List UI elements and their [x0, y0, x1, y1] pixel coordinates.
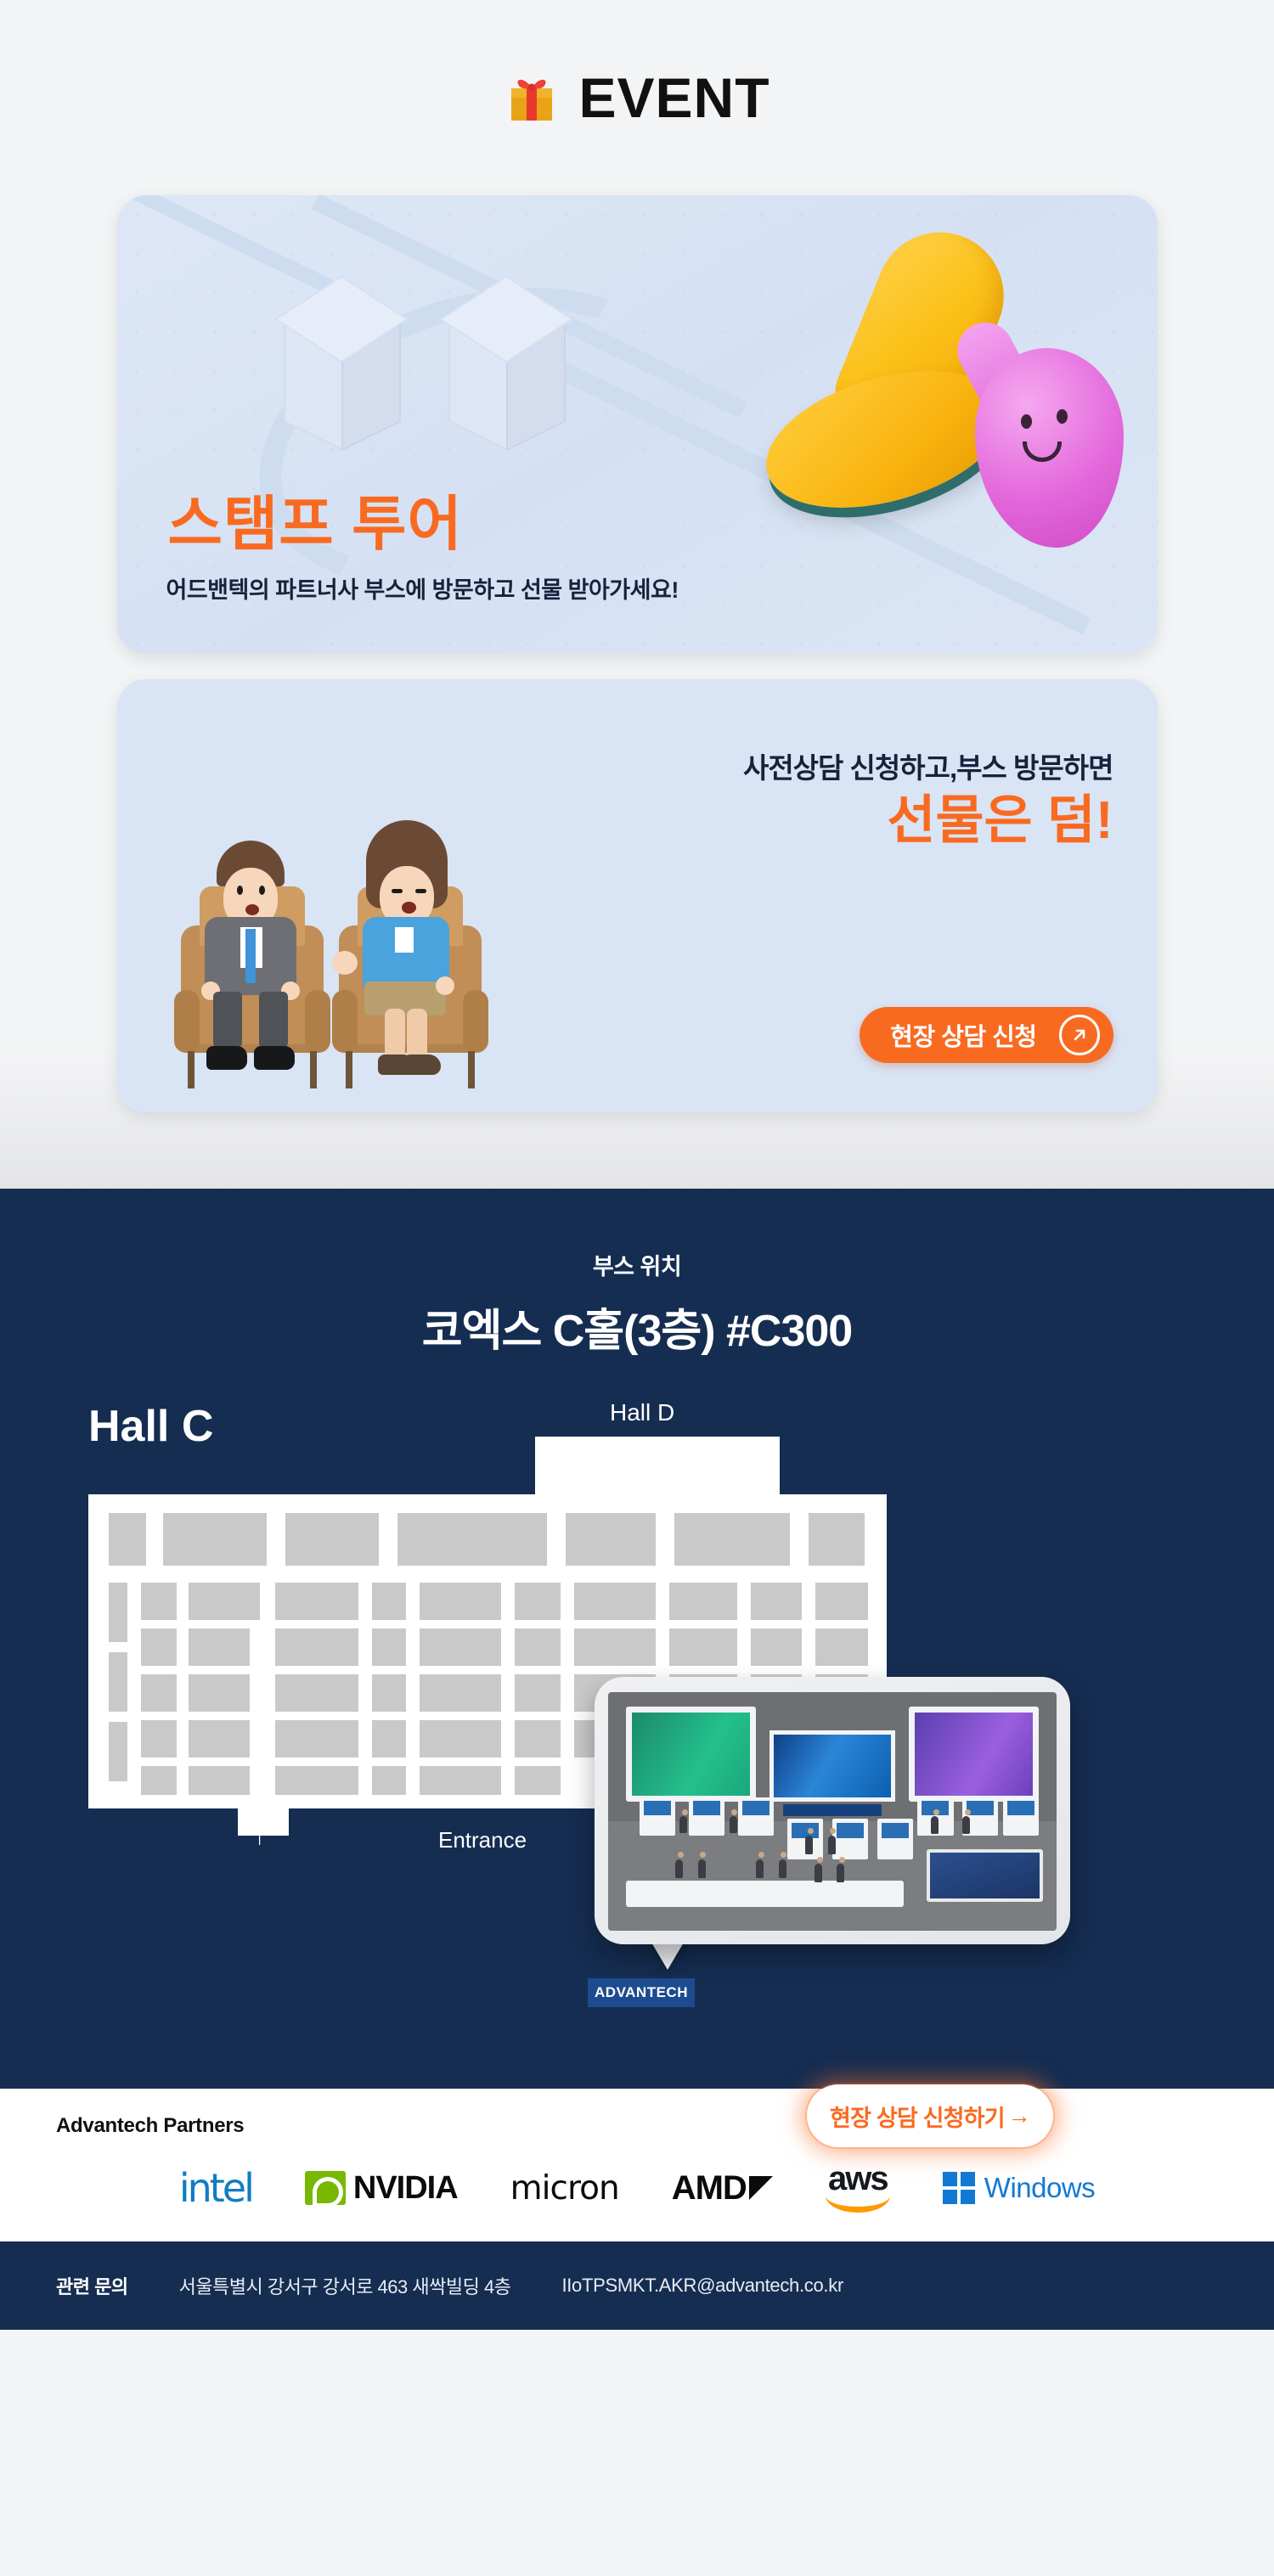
arrow-up-right-icon	[1059, 1015, 1100, 1055]
nvidia-eye-icon	[305, 2171, 346, 2205]
aws-logo[interactable]: aws	[826, 2163, 890, 2213]
event-landing-page: EVENT	[0, 0, 1274, 2576]
button-label: 현장 상담 신청	[890, 1017, 1036, 1053]
nvidia-logo[interactable]: NVIDIA	[305, 2163, 458, 2213]
booth-eyebrow: 부스 위치	[0, 1248, 1274, 1281]
footer-address: 서울특별시 강서구 강서로 463 새싹빌딩 4층	[179, 2272, 511, 2299]
micron-logo-text: micron	[510, 2169, 619, 2208]
stamp-tour-card[interactable]: 스탬프 투어 어드밴텍의 파트너사 부스에 방문하고 선물 받아가세요!	[117, 195, 1158, 654]
advantech-booth-badge: ADVANTECH	[588, 1978, 695, 2007]
entrance-arrow-left-icon: ↑	[253, 1824, 266, 1849]
footer-contact-label: 관련 문의	[56, 2272, 128, 2299]
windows-logo[interactable]: Windows	[943, 2163, 1095, 2213]
intel-logo[interactable]: intel	[179, 2163, 252, 2213]
cta-label: 현장 상담 신청하기	[830, 2100, 1005, 2133]
amd-logo[interactable]: AMD	[672, 2163, 773, 2213]
amd-arrow-icon	[749, 2176, 773, 2200]
card-title: 스탬프 투어	[168, 494, 463, 554]
arrow-right-icon: →	[1008, 2103, 1030, 2129]
page-header: EVENT	[0, 0, 1274, 195]
stamp-illustration-icon	[733, 229, 1132, 586]
windows-logo-text: Windows	[984, 2172, 1095, 2204]
onsite-consult-button[interactable]: 현장 상담 신청	[860, 1007, 1113, 1063]
intel-logo-text: intel	[179, 2165, 252, 2211]
card-line-2: 선물은 덤!	[887, 788, 1113, 854]
onsite-consult-cta-button[interactable]: 현장 상담 신청하기 →	[807, 2084, 1053, 2147]
booth-title: 코엑스 C홀(3층) #C300	[0, 1295, 1274, 1358]
partners-title: Advantech Partners	[56, 2114, 1274, 2138]
footer-email[interactable]: IIoTPSMKT.AKR@advantech.co.kr	[561, 2275, 843, 2297]
card-line-1: 사전상담 신청하고,부스 방문하면	[743, 745, 1113, 786]
booth-location-section: 부스 위치 코엑스 C홀(3층) #C300 Hall C Hall D	[0, 1189, 1274, 2089]
people-illustration-icon	[181, 749, 538, 1088]
gift-box-icon	[504, 70, 560, 126]
aws-smile-icon	[826, 2196, 890, 2213]
micron-logo[interactable]: micron	[510, 2163, 619, 2213]
partner-logo-row: intel NVIDIA micron AMD aws W	[0, 2163, 1274, 2213]
hall-d-label: Hall D	[610, 1399, 674, 1426]
page-title: EVENT	[578, 70, 769, 126]
booth-photo[interactable]	[595, 1677, 1070, 1944]
promo-section: 스탬프 투어 어드밴텍의 파트너사 부스에 방문하고 선물 받아가세요!	[0, 195, 1274, 1189]
entrance-label: Entrance	[438, 1827, 527, 1853]
pre-consult-card[interactable]: 사전상담 신청하고,부스 방문하면 선물은 덤! 현장 상담 신청	[117, 679, 1158, 1112]
page-footer: 관련 문의 서울특별시 강서구 강서로 463 새싹빌딩 4층 IIoTPSMK…	[0, 2241, 1274, 2330]
aws-logo-text: aws	[828, 2163, 888, 2194]
card-subtitle: 어드밴텍의 파트너사 부스에 방문하고 선물 받아가세요!	[166, 571, 679, 605]
amd-logo-text: AMD	[672, 2169, 747, 2208]
nvidia-logo-text: NVIDIA	[353, 2170, 458, 2207]
hall-c-label: Hall C	[88, 1401, 213, 1452]
hall-d-plate	[535, 1437, 780, 1498]
windows-squares-icon	[943, 2172, 975, 2204]
partners-section: Advantech Partners intel NVIDIA micron A…	[0, 2089, 1274, 2241]
